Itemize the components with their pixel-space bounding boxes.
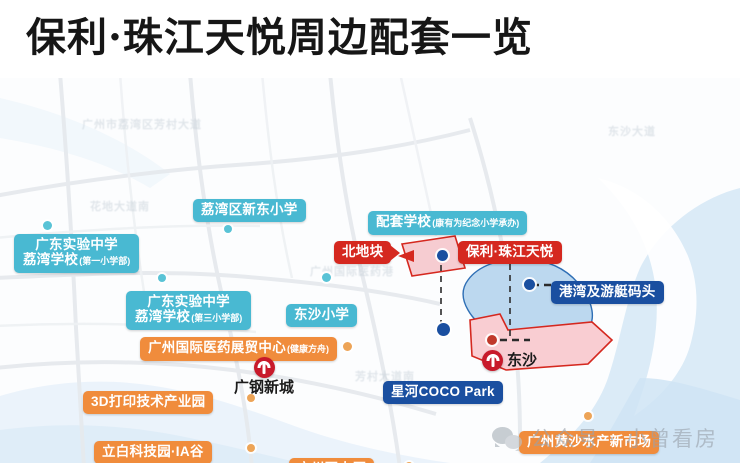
poi-label-gdsy1[interactable]: 广东实验中学 荔湾学校(第一小学部) — [14, 234, 139, 273]
poi-dot — [247, 444, 255, 452]
poi-label-text: 北地块 — [342, 244, 383, 260]
poi-label-line2-text: 荔湾学校 — [135, 309, 190, 324]
poi-label-text: 立白科技园·IA谷 — [102, 444, 204, 460]
poi-dot-south-plot — [487, 335, 497, 345]
poi-label-3dcy[interactable]: 3D打印技术产业园 — [83, 391, 213, 414]
poi-label-line2-text: 荔湾学校 — [23, 252, 78, 267]
metro-station-label: 东沙 — [507, 352, 537, 369]
poi-label-line2: 荔湾学校(第三小学部) — [135, 309, 242, 326]
poi-label-project[interactable]: 保利·珠江天悦 — [458, 241, 562, 264]
poi-label-sub: (第一小学部) — [79, 256, 130, 266]
poi-dot-coco — [437, 323, 450, 336]
poi-dot — [322, 273, 331, 282]
poi-label-text: 港湾及游艇码头 — [559, 284, 656, 300]
ghost-label: 花地大道南 — [90, 198, 150, 214]
poi-label-line2: 荔湾学校(第一小学部) — [23, 252, 130, 269]
poi-label-text: 东沙小学 — [294, 307, 349, 323]
poi-dot — [43, 221, 52, 230]
poi-dot — [224, 225, 232, 233]
metro-icon — [254, 357, 275, 378]
poi-label-sub: (健康方舟) — [287, 341, 329, 357]
page-title: 保利·珠江天悦周边配套一览 — [26, 12, 533, 64]
poster-root: 保利·珠江天悦周边配套一览 — [0, 0, 740, 463]
poi-label-sub: (第三小学部) — [191, 313, 242, 323]
poi-label-gdsy3[interactable]: 广东实验中学 荔湾学校(第三小学部) — [126, 291, 251, 330]
ghost-label: 东沙大道 — [608, 123, 656, 139]
poi-dot — [343, 342, 352, 351]
watermark: 公众号 · 小曾看房 — [492, 423, 718, 453]
title-bar: 保利·珠江天悦周边配套一览 — [0, 0, 740, 78]
poi-label-lbkj[interactable]: 立白科技园·IA谷 — [94, 441, 212, 463]
poi-label-text: 3D打印技术产业园 — [91, 394, 205, 410]
poi-label-text: 广州国际医药展贸中心 — [148, 340, 286, 356]
metro-station-ggxc[interactable]: 广钢新城 — [234, 357, 294, 396]
poi-dot — [584, 412, 592, 420]
poi-dot-harbour — [524, 279, 535, 290]
poi-label-lwxd[interactable]: 荔湾区新东小学 — [193, 199, 306, 222]
metro-icon — [482, 350, 503, 371]
poi-label-line1: 广东实验中学 — [23, 237, 130, 252]
poi-dot-north-plot — [437, 250, 448, 261]
metro-station-label: 广钢新城 — [234, 379, 294, 396]
poi-label-text: 配套学校 — [376, 214, 431, 230]
poi-label-north-plot[interactable]: 北地块 — [334, 241, 391, 264]
wechat-icon — [492, 427, 522, 449]
poi-label-ptxx[interactable]: 配套学校 (康有为纪念小学承办) — [368, 211, 527, 235]
map-canvas[interactable]: 广州市荔湾区芳村大道 广州国际医药港 芳村大道南 花地大道南 东沙大道 荔湾区新… — [0, 78, 740, 463]
poi-label-text: 星河COCO Park — [391, 384, 495, 400]
poi-label-line1: 广东实验中学 — [135, 294, 242, 309]
poi-label-dsxx[interactable]: 东沙小学 — [286, 304, 357, 327]
poi-label-sub: (康有为纪念小学承办) — [432, 215, 519, 231]
poi-label-gzyds[interactable]: 广州圆大厦 — [289, 458, 374, 463]
poi-label-harbour[interactable]: 港湾及游艇码头 — [551, 281, 664, 304]
poi-label-coco[interactable]: 星河COCO Park — [383, 381, 503, 404]
poi-label-text: 荔湾区新东小学 — [201, 202, 298, 218]
poi-dot — [158, 274, 166, 282]
watermark-text: 公众号 · 小曾看房 — [531, 423, 718, 453]
ghost-label: 广州市荔湾区芳村大道 — [82, 116, 202, 132]
metro-station-dongsha[interactable]: 东沙 — [482, 350, 537, 371]
poi-label-text: 保利·珠江天悦 — [466, 244, 554, 260]
